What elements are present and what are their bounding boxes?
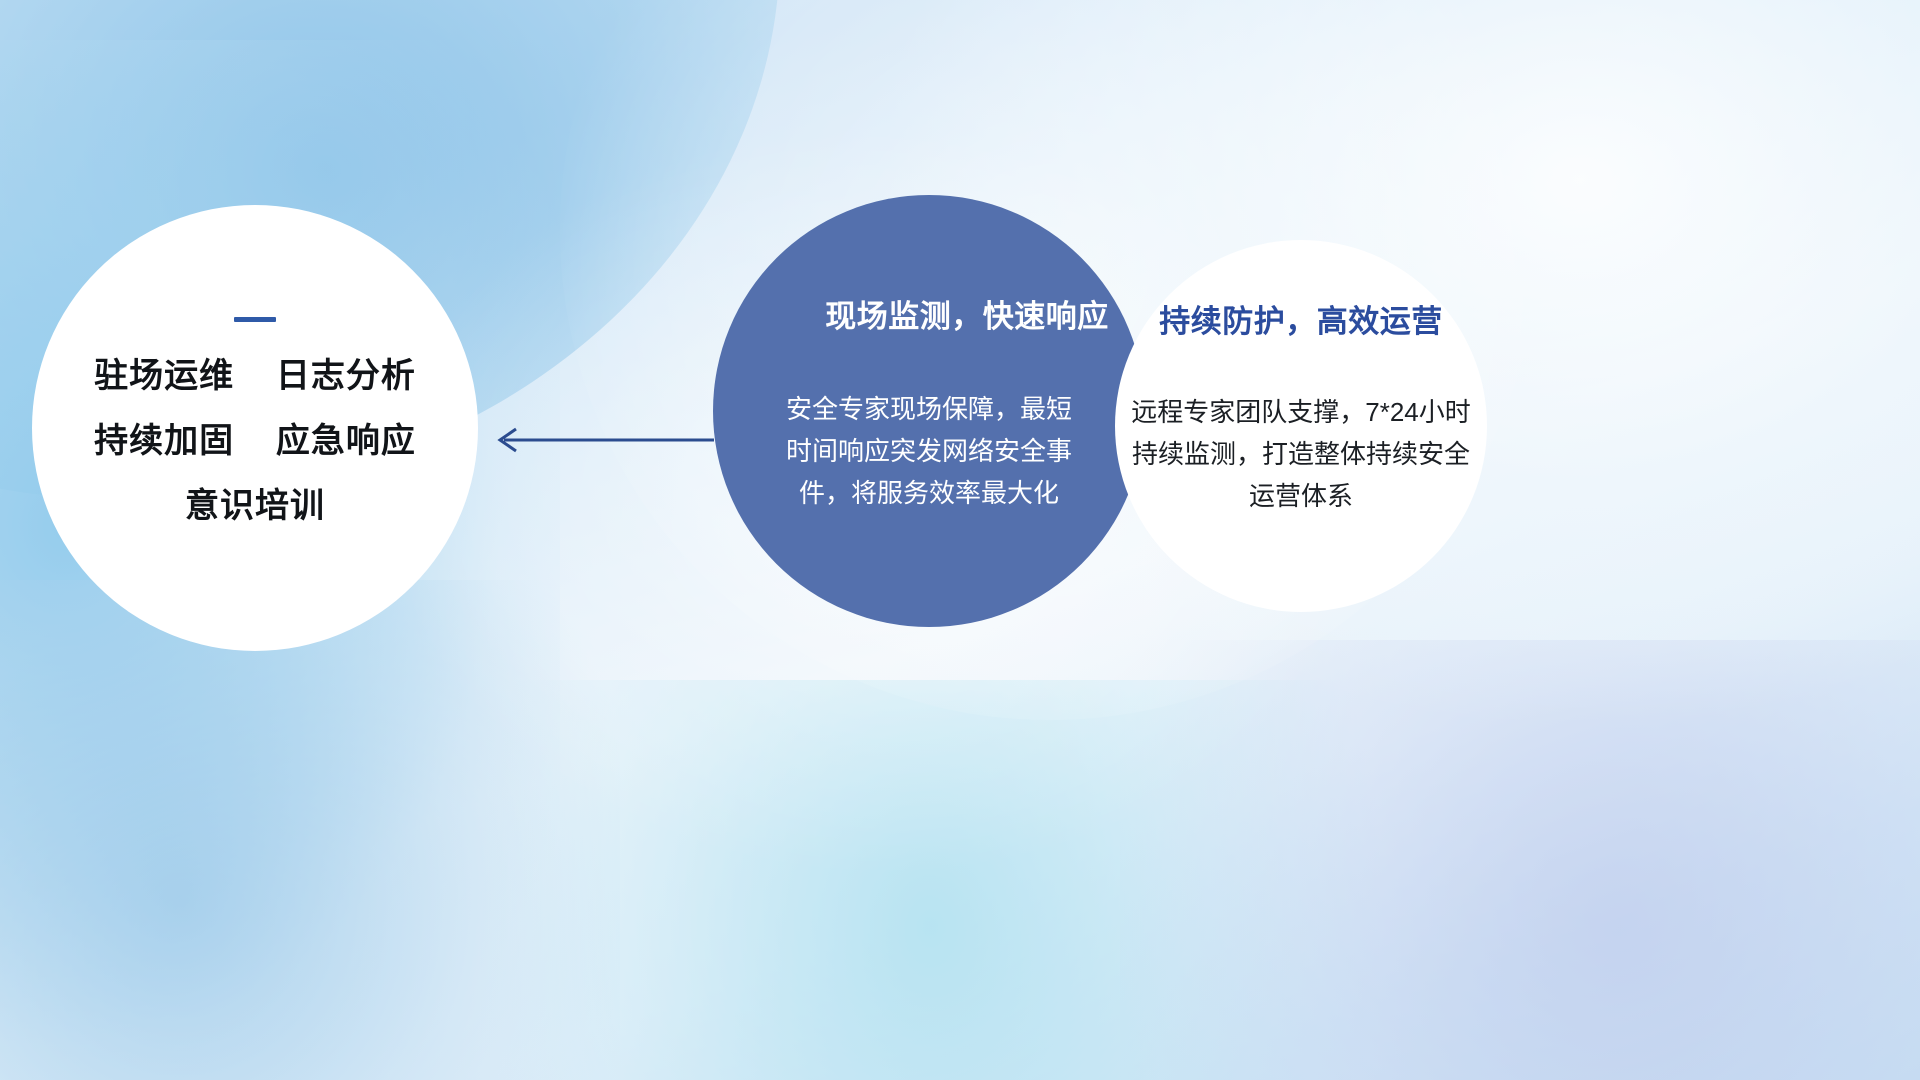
- left-service-circle[interactable]: 驻场运维 日志分析 持续加固 应急响应 意识培训: [32, 205, 478, 651]
- left-circle-line-2: 持续加固 应急响应: [94, 424, 416, 458]
- mid-circle-body: 安全专家现场保障，最短时间响应突发网络安全事件，将服务效率最大化: [782, 388, 1077, 514]
- left-circle-line-3: 意识培训: [185, 489, 325, 523]
- left-circle-line-1: 驻场运维 日志分析: [94, 359, 416, 393]
- right-circle-title: 持续防护，高效运营: [1159, 296, 1443, 341]
- flow-arrow-left-icon: [488, 412, 714, 468]
- mid-service-circle[interactable]: 现场监测，快速响应 安全专家现场保障，最短时间响应突发网络安全事件，将服务效率最…: [713, 195, 1145, 627]
- mid-circle-content: 现场监测，快速响应 安全专家现场保障，最短时间响应突发网络安全事件，将服务效率最…: [713, 195, 1145, 627]
- right-service-circle[interactable]: 持续防护，高效运营 远程专家团队支撑，7*24小时持续监测，打造整体持续安全运营…: [1115, 240, 1487, 612]
- slide-canvas: 驻场运维 日志分析 持续加固 应急响应 意识培训 现场监测，快速响应 安全专家现…: [0, 0, 1920, 1080]
- divider-dash-icon: [234, 317, 276, 322]
- mid-circle-title: 现场监测，快速响应: [825, 291, 1109, 336]
- right-circle-body: 远程专家团队支撑，7*24小时持续监测，打造整体持续安全运营体系: [1131, 391, 1471, 517]
